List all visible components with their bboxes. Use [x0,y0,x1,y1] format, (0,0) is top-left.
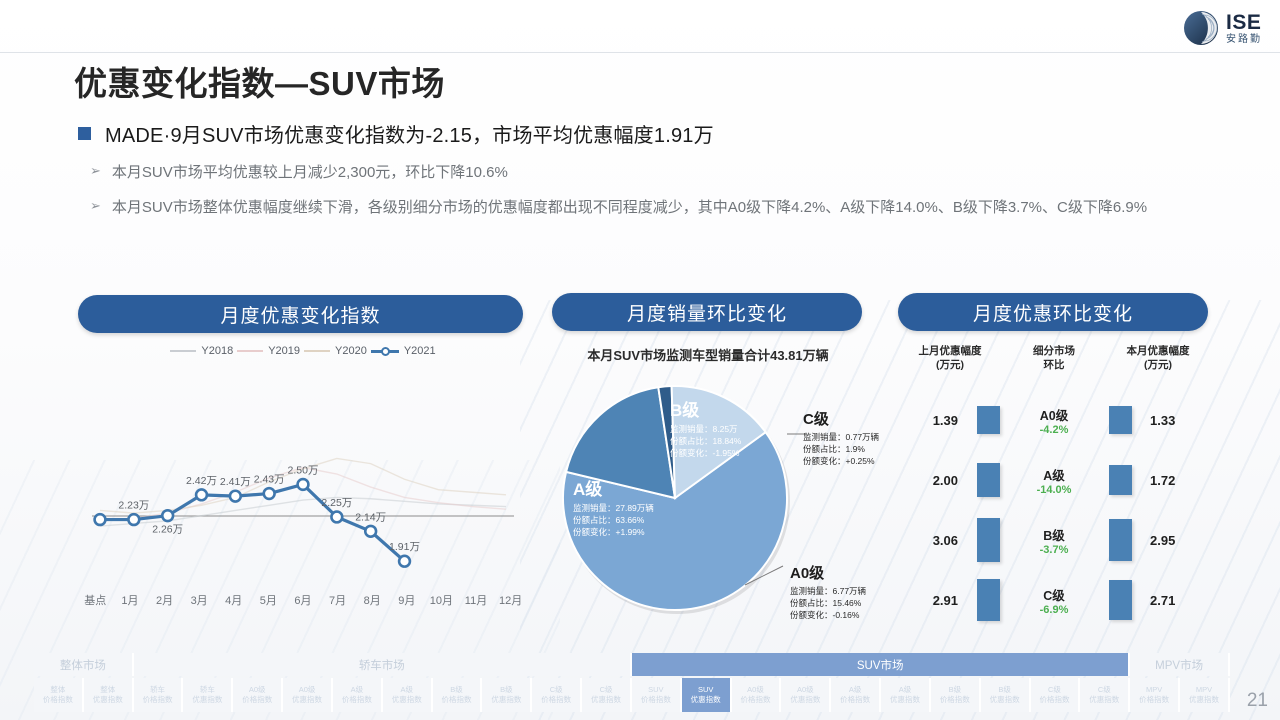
nav-item-line1: MPV [1196,685,1212,695]
nav-item-C级-价格指数[interactable]: C级价格指数 [1031,678,1081,712]
svg-text:2.25万: 2.25万 [321,497,352,509]
page-title: 优惠变化指数—SUV市场 [74,57,445,105]
nav-group-SUV市场[interactable]: SUV市场 [632,653,1130,676]
nav-item-line2: 价格指数 [442,695,472,705]
svg-text:2.14万: 2.14万 [355,511,386,523]
nav-item-line2: 优惠指数 [292,695,322,705]
compare-segment-name: A0级 [1010,405,1098,424]
nav-item-B级-价格指数[interactable]: B级价格指数 [433,678,483,712]
pie-label-volume: 监测销量：8.25万 [670,423,741,435]
nav-item-line1: 轿车 [200,685,215,695]
compare-header-2: 本月优惠幅度(万元) [1106,344,1210,372]
pie-label-volume: 监测销量：27.89万辆 [573,502,654,514]
legend-label: Y2018 [201,345,233,357]
compare-segment: C级-6.9% [1010,585,1098,616]
x-tick-label: 4月 [216,592,251,608]
nav-item-A0级-价格指数[interactable]: A0级价格指数 [233,678,283,712]
company-logo: ISE 安路勤 [1182,9,1262,47]
pie-label-C级: C级监测销量：0.77万辆份额占比：1.9%份额变化：+0.25% [803,408,879,467]
compare-prev-bar-cell [966,518,1010,562]
panel-title-compare: 月度优惠环比变化 [898,293,1208,331]
pie-chart-note: 本月SUV市场监测车型销量合计43.81万辆 [552,345,864,364]
compare-header-line: 本月优惠幅度 [1106,344,1210,358]
nav-item-line1: MPV [1146,685,1162,695]
compare-prev-bar [977,406,1000,434]
legend-swatch [170,350,196,352]
nav-item-line2: 价格指数 [242,695,272,705]
compare-curr-bar-cell [1098,465,1142,496]
pie-label-change: 份额变化：+0.25% [803,455,879,467]
line-chart: Y2018Y2019Y2020Y2021 2.23万2.26万2.42万2.41… [78,340,528,620]
nav-item-line1: B级 [500,685,513,695]
compare-prev-value: 1.39 [898,413,966,428]
compare-segment: B级-3.7% [1010,525,1098,556]
nav-item-轿车-价格指数[interactable]: 轿车价格指数 [134,678,184,712]
nav-item-B级-优惠指数[interactable]: B级优惠指数 [482,678,532,712]
pie-label-name: C级 [803,408,879,429]
nav-item-C级-优惠指数[interactable]: C级优惠指数 [1080,678,1130,712]
compare-rows: 1.39A0级-4.2%1.332.00A级-14.0%1.723.06B级-3… [898,390,1210,630]
nav-item-line2: 价格指数 [43,695,73,705]
nav-item-line1: A0级 [797,685,814,695]
nav-item-row[interactable]: 整体价格指数整体优惠指数轿车价格指数轿车优惠指数A0级价格指数A0级优惠指数A级… [34,678,1230,712]
x-tick-label: 9月 [389,592,424,608]
nav-item-line2: 价格指数 [143,695,173,705]
svg-text:2.43万: 2.43万 [254,474,285,486]
x-tick-label: 7月 [320,592,355,608]
compare-curr-bar-cell [1098,406,1142,433]
legend-swatch [371,347,399,356]
nav-item-line1: A级 [400,685,413,695]
compare-header-line: 细分市场 [1002,344,1106,358]
line-chart-canvas: 2.23万2.26万2.42万2.41万2.43万2.50万2.25万2.14万… [78,368,528,598]
nav-item-line1: 整体 [100,685,115,695]
nav-item-line1: A0级 [249,685,266,695]
compare-prev-bar [977,518,1000,562]
compare-row: 2.91C级-6.9%2.71 [898,570,1210,630]
pie-label-share: 份额占比：63.66% [573,514,654,526]
panel-title-pie-chart: 月度销量环比变化 [552,293,862,331]
nav-item-line2: 优惠指数 [1189,695,1219,705]
nav-item-line1: A级 [899,685,912,695]
compare-curr-value: 1.33 [1142,413,1210,428]
compare-segment-name: C级 [1010,585,1098,604]
compare-change-pct: -14.0% [1010,484,1098,496]
x-tick-label: 12月 [493,592,528,608]
nav-item-B级-价格指数[interactable]: B级价格指数 [931,678,981,712]
compare-prev-value: 2.91 [898,593,966,608]
pie-label-name: A级 [573,475,654,500]
sub-point-1: ➢ 本月SUV市场平均优惠较上月减少2,300元，环比下降10.6% [90,160,1200,186]
compare-prev-value: 2.00 [898,473,966,488]
svg-text:2.50万: 2.50万 [288,464,319,476]
compare-curr-bar [1109,406,1132,433]
legend-label: Y2019 [268,345,300,357]
compare-row: 1.39A0级-4.2%1.33 [898,390,1210,450]
headline-text: MADE·9月SUV市场优惠变化指数为-2.15，市场平均优惠幅度1.91万 [105,119,714,148]
nav-group-轿车市场[interactable]: 轿车市场 [134,653,632,676]
nav-item-line2: 优惠指数 [790,695,820,705]
compare-curr-value: 2.95 [1142,533,1210,548]
legend-swatch [304,350,330,352]
nav-item-A0级-价格指数[interactable]: A0级价格指数 [732,678,782,712]
compare-header-line: 上月优惠幅度 [898,344,1002,358]
page-number: 21 [1247,690,1268,712]
compare-curr-bar [1109,519,1132,562]
pie-label-B级: B级监测销量：8.25万份额占比：18.84%份额变化：-1.95% [670,396,741,459]
nav-item-line1: 整体 [50,685,65,695]
nav-item-line2: 价格指数 [741,695,771,705]
nav-item-line1: C级 [600,685,613,695]
svg-text:2.23万: 2.23万 [118,500,149,512]
nav-group-整体市场[interactable]: 整体市场 [34,653,134,676]
nav-item-MPV-价格指数[interactable]: MPV价格指数 [1130,678,1180,712]
sub-point-1-text: 本月SUV市场平均优惠较上月减少2,300元，环比下降10.6% [112,160,508,186]
sub-point-2-text: 本月SUV市场整体优惠幅度继续下滑，各级别细分市场的优惠幅度都出现不同程度减少，… [112,195,1147,221]
square-bullet-icon [78,127,91,140]
nav-item-A级-价格指数[interactable]: A级价格指数 [831,678,881,712]
compare-header-line: (万元) [898,358,1002,372]
nav-item-A级-优惠指数[interactable]: A级优惠指数 [383,678,433,712]
nav-group-row[interactable]: 整体市场轿车市场SUV市场MPV市场 [34,653,1230,676]
legend-label: Y2021 [404,345,436,357]
nav-item-line1: 轿车 [150,685,165,695]
svg-text:2.26万: 2.26万 [152,524,183,536]
nav-item-A0级-优惠指数[interactable]: A0级优惠指数 [781,678,831,712]
nav-item-line2: 价格指数 [641,695,671,705]
compare-header-line: (万元) [1106,358,1210,372]
compare-curr-value: 2.71 [1142,593,1210,608]
legend-item-y2020: Y2020 [304,345,367,357]
pie-label-A0级: A0级监测销量：6.77万辆份额占比：15.46%份额变化：-0.16% [790,562,866,621]
nav-item-B级-优惠指数[interactable]: B级优惠指数 [981,678,1031,712]
pie-label-share: 份额占比：18.84% [670,435,741,447]
nav-item-line1: SUV [648,685,663,695]
nav-item-SUV-优惠指数[interactable]: SUV优惠指数 [682,678,732,712]
pie-label-change: 份额变化：+1.99% [573,526,654,538]
compare-segment: A级-14.0% [1010,465,1098,496]
globe-icon [1182,9,1220,47]
compare-curr-bar-cell [1098,580,1142,621]
nav-item-line1: B级 [949,685,962,695]
bottom-navigation[interactable]: 整体市场轿车市场SUV市场MPV市场 整体价格指数整体优惠指数轿车价格指数轿车优… [34,653,1230,712]
pie-label-share: 份额占比：1.9% [803,443,879,455]
pie-label-change: 份额变化：-1.95% [670,447,741,459]
compare-prev-bar [977,579,1000,622]
nav-item-整体-价格指数[interactable]: 整体价格指数 [34,678,84,712]
nav-item-line1: SUV [698,685,713,695]
pie-label-volume: 监测销量：0.77万辆 [803,431,879,443]
compare-segment-name: B级 [1010,525,1098,544]
nav-item-line2: 优惠指数 [691,695,721,705]
line-chart-x-axis: 基点1月2月3月4月5月6月7月8月9月10月11月12月 [78,592,528,608]
compare-prev-bar-cell [966,406,1010,434]
nav-item-C级-优惠指数[interactable]: C级优惠指数 [582,678,632,712]
nav-item-line2: 优惠指数 [93,695,123,705]
headline-bullet: MADE·9月SUV市场优惠变化指数为-2.15，市场平均优惠幅度1.91万 [78,119,714,148]
nav-item-line1: B级 [998,685,1011,695]
nav-group-label: 轿车市场 [359,657,405,673]
nav-item-line1: C级 [1048,685,1061,695]
arrow-bullet-icon: ➢ [90,195,101,217]
x-tick-label: 6月 [286,592,321,608]
compare-prev-bar [977,463,1000,497]
compare-headers: 上月优惠幅度(万元)细分市场环比本月优惠幅度(万元) [898,344,1210,372]
nav-item-line1: A级 [351,685,364,695]
nav-item-整体-优惠指数[interactable]: 整体优惠指数 [84,678,134,712]
nav-item-line2: 价格指数 [840,695,870,705]
nav-item-line2: 价格指数 [940,695,970,705]
pie-label-change: 份额变化：-0.16% [790,609,866,621]
nav-item-C级-价格指数[interactable]: C级价格指数 [532,678,582,712]
svg-text:2.41万: 2.41万 [220,476,251,488]
pie-label-volume: 监测销量：6.77万辆 [790,585,866,597]
nav-group-label: SUV市场 [857,657,904,673]
pie-label-A级: A级监测销量：27.89万辆份额占比：63.66%份额变化：+1.99% [573,475,654,538]
compare-change-pct: -4.2% [1010,424,1098,436]
nav-item-line1: B级 [450,685,463,695]
compare-segment: A0级-4.2% [1010,405,1098,436]
nav-item-A0级-优惠指数[interactable]: A0级优惠指数 [283,678,333,712]
compare-header-0: 上月优惠幅度(万元) [898,344,1002,372]
nav-item-line2: 价格指数 [541,695,571,705]
compare-prev-bar-cell [966,579,1010,622]
nav-item-line2: 价格指数 [1039,695,1069,705]
nav-item-line1: C级 [550,685,563,695]
legend-item-y2018: Y2018 [170,345,233,357]
nav-item-line2: 价格指数 [1139,695,1169,705]
compare-row: 2.00A级-14.0%1.72 [898,450,1210,510]
nav-item-line1: A级 [849,685,862,695]
legend-item-y2019: Y2019 [237,345,300,357]
svg-text:1.91万: 1.91万 [389,541,420,553]
nav-item-line2: 优惠指数 [1089,695,1119,705]
nav-item-line2: 优惠指数 [392,695,422,705]
x-tick-label: 3月 [182,592,217,608]
logo-name: ISE [1226,12,1262,33]
nav-item-轿车-优惠指数[interactable]: 轿车优惠指数 [183,678,233,712]
nav-item-line2: 优惠指数 [990,695,1020,705]
compare-change-pct: -6.9% [1010,604,1098,616]
compare-segment-name: A级 [1010,465,1098,484]
compare-row: 3.06B级-3.7%2.95 [898,510,1210,570]
nav-group-label: MPV市场 [1155,657,1203,673]
compare-change-pct: -3.7% [1010,544,1098,556]
legend-label: Y2020 [335,345,367,357]
compare-prev-value: 3.06 [898,533,966,548]
compare-header-line: 环比 [1002,358,1106,372]
legend-item-y2021: Y2021 [371,345,436,357]
compare-curr-bar-cell [1098,519,1142,562]
sub-point-2: ➢ 本月SUV市场整体优惠幅度继续下滑，各级别细分市场的优惠幅度都出现不同程度减… [90,195,1200,221]
logo-name-cn: 安路勤 [1226,35,1262,45]
legend-swatch [237,350,263,352]
nav-item-line2: 优惠指数 [591,695,621,705]
nav-item-line2: 优惠指数 [192,695,222,705]
panel-title-line-chart: 月度优惠变化指数 [78,295,523,333]
svg-text:2.42万: 2.42万 [186,475,217,487]
compare-curr-bar [1109,580,1132,621]
nav-item-line2: 优惠指数 [491,695,521,705]
arrow-bullet-icon: ➢ [90,160,101,182]
compare-curr-value: 1.72 [1142,473,1210,488]
pie-label-share: 份额占比：15.46% [790,597,866,609]
x-tick-label: 1月 [113,592,148,608]
line-chart-legend: Y2018Y2019Y2020Y2021 [78,345,528,357]
x-tick-label: 10月 [424,592,459,608]
header-divider [0,52,1280,53]
nav-item-line2: 优惠指数 [890,695,920,705]
nav-group-label: 整体市场 [60,657,106,673]
pie-label-name: A0级 [790,562,866,583]
x-tick-label: 2月 [147,592,182,608]
nav-item-line1: A0级 [747,685,764,695]
pie-label-name: B级 [670,396,741,421]
nav-item-line1: A0级 [299,685,316,695]
nav-item-SUV-价格指数[interactable]: SUV价格指数 [632,678,682,712]
compare-header-1: 细分市场环比 [1002,344,1106,372]
pie-chart: A级监测销量：27.89万辆份额占比：63.66%份额变化：+1.99%B级监测… [545,370,905,635]
nav-group-MPV市场[interactable]: MPV市场 [1130,653,1230,676]
compare-chart: 上月优惠幅度(万元)细分市场环比本月优惠幅度(万元) 1.39A0级-4.2%1… [898,344,1210,624]
compare-prev-bar-cell [966,463,1010,497]
nav-item-MPV-优惠指数[interactable]: MPV优惠指数 [1180,678,1230,712]
x-tick-label: 8月 [355,592,390,608]
x-tick-label: 基点 [78,592,113,608]
nav-item-line2: 价格指数 [342,695,372,705]
x-tick-label: 11月 [459,592,494,608]
compare-curr-bar [1109,465,1132,496]
nav-item-line1: C级 [1098,685,1111,695]
nav-item-A级-优惠指数[interactable]: A级优惠指数 [881,678,931,712]
x-tick-label: 5月 [251,592,286,608]
nav-item-A级-价格指数[interactable]: A级价格指数 [333,678,383,712]
